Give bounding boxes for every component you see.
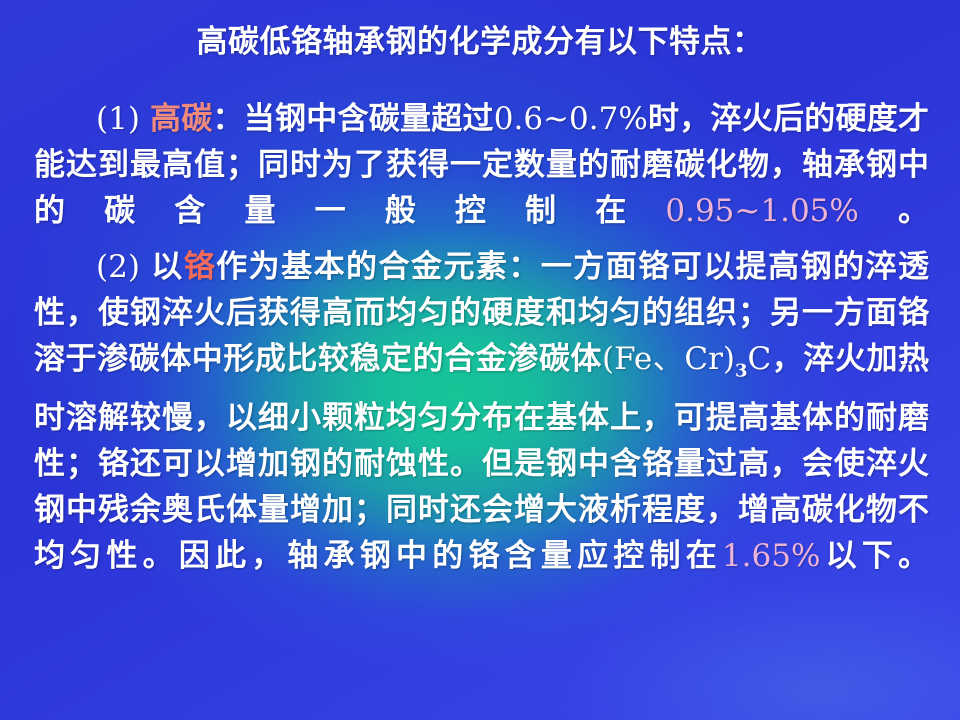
keyword-high-carbon: 高碳 — [150, 101, 213, 137]
carbide-formula-subscript: 3 — [735, 361, 748, 382]
page-title: 高碳低铬轴承钢的化学成分有以下特点： — [0, 20, 960, 64]
paragraph-1-period: 。 — [859, 193, 929, 229]
carbide-formula-carbon: C — [748, 341, 772, 377]
paragraph-2-marker: (2) — [96, 249, 151, 285]
slide-canvas: 高碳低铬轴承钢的化学成分有以下特点： (1) 高碳：当钢中含碳量超过0.6~0.… — [0, 0, 960, 720]
paragraph-2: (2) 以铬作为基本的合金元素：一方面铬可以提高钢的淬透性，使钢淬火后获得高而均… — [34, 244, 929, 625]
paragraph-2-body-a: 以 — [151, 249, 183, 285]
paragraph-2-body-e: 以下。 — [820, 538, 929, 574]
keyword-chromium: 铬 — [184, 249, 216, 285]
paragraph-2-text: (2) 以铬作为基本的合金元素：一方面铬可以提高钢的淬透性，使钢淬火后获得高而均… — [34, 244, 929, 625]
carbon-range-value: 0.95~1.05% — [665, 193, 858, 229]
carbon-threshold-value: 0.6~0.7% — [494, 101, 648, 137]
carbide-formula-main: (Fe、Cr) — [602, 341, 735, 377]
paragraph-1-body-a: ：当钢中含碳量超过 — [213, 101, 494, 137]
chromium-max-value: 1.65% — [722, 538, 820, 574]
paragraph-2-body-d: 制在 — [650, 538, 722, 574]
paragraph-1-marker: (1) — [96, 101, 150, 137]
